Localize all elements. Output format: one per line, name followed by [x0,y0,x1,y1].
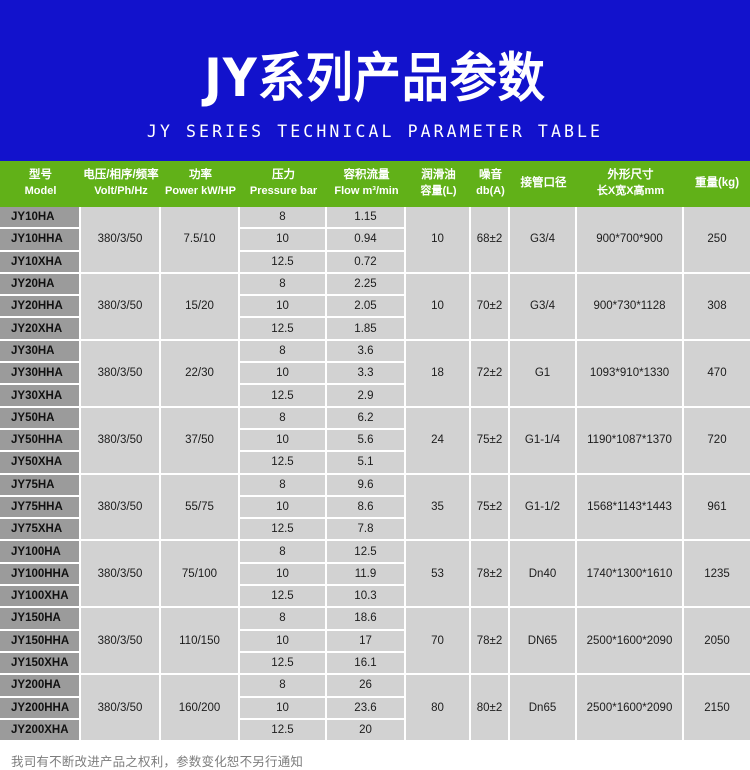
table-row: JY30HA380/3/5022/3083.61872±2G11093*910*… [0,341,750,363]
cell-power: 55/75 [161,475,240,542]
cell-pressure: 10 [240,363,327,385]
cell-oil-capacity: 70 [406,608,471,675]
table-row: JY20HA380/3/5015/2082.251070±2G3/4900*73… [0,274,750,296]
column-header-en: 容量(L) [407,184,470,199]
cell-flow: 9.6 [327,475,406,497]
column-header-en: Flow m³/min [328,184,405,199]
cell-flow: 6.2 [327,408,406,430]
banner-subtitle-en: JY SERIES TECHNICAL PARAMETER TABLE [147,122,603,141]
spec-table-wrapper: 型号Model电压/相序/频率Volt/Ph/Hz功率Power kW/HP压力… [0,161,750,742]
cell-flow: 0.72 [327,252,406,274]
cell-pressure: 8 [240,675,327,697]
cell-weight: 961 [684,475,750,542]
table-row: JY150HA380/3/50110/150818.67078±2DN65250… [0,608,750,630]
cell-flow: 1.85 [327,318,406,340]
cell-oil-capacity: 10 [406,274,471,341]
cell-flow: 26 [327,675,406,697]
cell-pipe-diameter: G1-1/4 [510,408,577,475]
cell-noise: 68±2 [471,207,510,274]
cell-model: JY20HHA [0,296,81,318]
cell-flow: 12.5 [327,541,406,563]
cell-weight: 1235 [684,541,750,608]
column-header-: 接管口径 [510,161,577,207]
cell-pressure: 12.5 [240,452,327,474]
table-row: JY75HA380/3/5055/7589.63575±2G1-1/21568*… [0,475,750,497]
cell-model: JY100HHA [0,564,81,586]
cell-pressure: 10 [240,296,327,318]
column-header-en: 长X宽X高mm [578,184,683,199]
cell-weight: 308 [684,274,750,341]
cell-pipe-diameter: Dn40 [510,541,577,608]
cell-model: JY200XHA [0,720,81,742]
cell-pressure: 8 [240,608,327,630]
cell-flow: 5.1 [327,452,406,474]
cell-oil-capacity: 80 [406,675,471,742]
cell-pressure: 12.5 [240,318,327,340]
column-header-cn: 型号 [1,168,80,184]
cell-power: 15/20 [161,274,240,341]
cell-weight: 2150 [684,675,750,742]
column-header-en: Power kW/HP [162,184,239,199]
column-header-cn: 接管口径 [511,176,576,192]
cell-oil-capacity: 53 [406,541,471,608]
table-row: JY100HA380/3/5075/100812.55378±2Dn401740… [0,541,750,563]
cell-weight: 470 [684,341,750,408]
cell-voltage: 380/3/50 [81,475,161,542]
header-banner: JY系列产品参数 JY SERIES TECHNICAL PARAMETER T… [0,0,750,161]
cell-power: 7.5/10 [161,207,240,274]
column-header-en: Model [1,184,80,199]
cell-flow: 7.8 [327,519,406,541]
banner-title-cn: JY系列产品参数 [204,51,546,108]
cell-model: JY20HA [0,274,81,296]
table-header: 型号Model电压/相序/频率Volt/Ph/Hz功率Power kW/HP压力… [0,161,750,207]
cell-flow: 3.6 [327,341,406,363]
cell-pressure: 8 [240,541,327,563]
cell-pressure: 12.5 [240,385,327,407]
column-header-cn: 外形尺寸 [578,168,683,184]
column-header-cn: 重量(kg) [685,176,749,192]
column-header-flow-m-min: 容积流量Flow m³/min [327,161,406,207]
column-header-cn: 压力 [241,168,326,184]
column-header-pressure-bar: 压力Pressure bar [240,161,327,207]
cell-oil-capacity: 18 [406,341,471,408]
cell-voltage: 380/3/50 [81,541,161,608]
cell-weight: 720 [684,408,750,475]
page-root: JY系列产品参数 JY SERIES TECHNICAL PARAMETER T… [0,0,750,701]
cell-flow: 5.6 [327,430,406,452]
cell-pressure: 8 [240,408,327,430]
cell-dimensions: 1190*1087*1370 [577,408,684,475]
cell-flow: 0.94 [327,229,406,251]
column-header-cn: 功率 [162,168,239,184]
cell-voltage: 380/3/50 [81,341,161,408]
cell-power: 160/200 [161,675,240,742]
cell-voltage: 380/3/50 [81,608,161,675]
cell-weight: 250 [684,207,750,274]
cell-noise: 78±2 [471,608,510,675]
cell-pressure: 10 [240,430,327,452]
cell-pipe-diameter: DN65 [510,608,577,675]
cell-pressure: 10 [240,564,327,586]
cell-power: 110/150 [161,608,240,675]
cell-model: JY50HA [0,408,81,430]
column-header-model: 型号Model [0,161,81,207]
cell-noise: 80±2 [471,675,510,742]
table-row: JY200HA380/3/50160/2008268080±2Dn652500*… [0,675,750,697]
cell-pressure: 10 [240,631,327,653]
cell-pressure: 12.5 [240,586,327,608]
cell-flow: 10.3 [327,586,406,608]
column-header-db-a: 噪音db(A) [471,161,510,207]
column-header-volt-ph-hz: 电压/相序/频率Volt/Ph/Hz [81,161,161,207]
cell-model: JY30XHA [0,385,81,407]
column-header-en: db(A) [472,184,509,199]
cell-model: JY50HHA [0,430,81,452]
cell-dimensions: 900*730*1128 [577,274,684,341]
cell-pipe-diameter: Dn65 [510,675,577,742]
cell-noise: 75±2 [471,408,510,475]
cell-pressure: 8 [240,475,327,497]
cell-flow: 18.6 [327,608,406,630]
cell-pressure: 8 [240,341,327,363]
cell-pipe-diameter: G3/4 [510,274,577,341]
cell-flow: 2.9 [327,385,406,407]
cell-pressure: 12.5 [240,653,327,675]
column-header-cn: 电压/相序/频率 [82,168,160,184]
cell-pipe-diameter: G1 [510,341,577,408]
cell-pressure: 10 [240,229,327,251]
cell-power: 37/50 [161,408,240,475]
cell-model: JY75HHA [0,497,81,519]
cell-flow: 20 [327,720,406,742]
cell-dimensions: 1093*910*1330 [577,341,684,408]
cell-model: JY20XHA [0,318,81,340]
column-header-power-kw-hp: 功率Power kW/HP [161,161,240,207]
cell-flow: 3.3 [327,363,406,385]
cell-noise: 70±2 [471,274,510,341]
cell-flow: 11.9 [327,564,406,586]
cell-model: JY10XHA [0,252,81,274]
cell-flow: 16.1 [327,653,406,675]
spec-table: 型号Model电压/相序/频率Volt/Ph/Hz功率Power kW/HP压力… [0,161,750,742]
cell-dimensions: 2500*1600*2090 [577,608,684,675]
cell-pressure: 12.5 [240,519,327,541]
cell-pressure: 10 [240,497,327,519]
cell-flow: 1.15 [327,207,406,229]
cell-power: 75/100 [161,541,240,608]
column-header-cn: 噪音 [472,168,509,184]
cell-pressure: 12.5 [240,252,327,274]
cell-model: JY150HA [0,608,81,630]
column-header-kg: 重量(kg) [684,161,750,207]
cell-model: JY75XHA [0,519,81,541]
cell-model: JY150HHA [0,631,81,653]
cell-model: JY75HA [0,475,81,497]
cell-pipe-diameter: G3/4 [510,207,577,274]
cell-model: JY100HA [0,541,81,563]
cell-noise: 78±2 [471,541,510,608]
cell-model: JY30HHA [0,363,81,385]
cell-flow: 2.25 [327,274,406,296]
cell-flow: 17 [327,631,406,653]
column-header-l: 润滑油容量(L) [406,161,471,207]
cell-noise: 72±2 [471,341,510,408]
cell-model: JY30HA [0,341,81,363]
cell-oil-capacity: 10 [406,207,471,274]
cell-weight: 2050 [684,608,750,675]
cell-oil-capacity: 24 [406,408,471,475]
column-header-cn: 容积流量 [328,168,405,184]
column-header-cn: 润滑油 [407,168,470,184]
cell-pressure: 8 [240,274,327,296]
cell-model: JY10HA [0,207,81,229]
cell-model: JY100XHA [0,586,81,608]
cell-power: 22/30 [161,341,240,408]
cell-noise: 75±2 [471,475,510,542]
cell-model: JY50XHA [0,452,81,474]
cell-pressure: 12.5 [240,720,327,742]
cell-dimensions: 2500*1600*2090 [577,675,684,742]
column-header-en: Volt/Ph/Hz [82,184,160,199]
cell-model: JY150XHA [0,653,81,675]
cell-model: JY10HHA [0,229,81,251]
cell-voltage: 380/3/50 [81,207,161,274]
cell-dimensions: 1740*1300*1610 [577,541,684,608]
cell-flow: 2.05 [327,296,406,318]
cell-voltage: 380/3/50 [81,675,161,742]
table-row: JY10HA380/3/507.5/1081.151068±2G3/4900*7… [0,207,750,229]
column-header-x-x-mm: 外形尺寸长X宽X高mm [577,161,684,207]
cell-pipe-diameter: G1-1/2 [510,475,577,542]
column-header-en: Pressure bar [241,184,326,199]
cell-pressure: 8 [240,207,327,229]
table-body: JY10HA380/3/507.5/1081.151068±2G3/4900*7… [0,207,750,742]
table-row: JY50HA380/3/5037/5086.22475±2G1-1/41190*… [0,408,750,430]
cell-flow: 8.6 [327,497,406,519]
header-row: 型号Model电压/相序/频率Volt/Ph/Hz功率Power kW/HP压力… [0,161,750,207]
footnote-text: 我司有不断改进产品之权利，参数变化恕不另行通知 [0,742,750,770]
cell-voltage: 380/3/50 [81,274,161,341]
cell-model: JY200HA [0,675,81,697]
cell-dimensions: 1568*1143*1443 [577,475,684,542]
cell-dimensions: 900*700*900 [577,207,684,274]
cell-voltage: 380/3/50 [81,408,161,475]
cell-oil-capacity: 35 [406,475,471,542]
